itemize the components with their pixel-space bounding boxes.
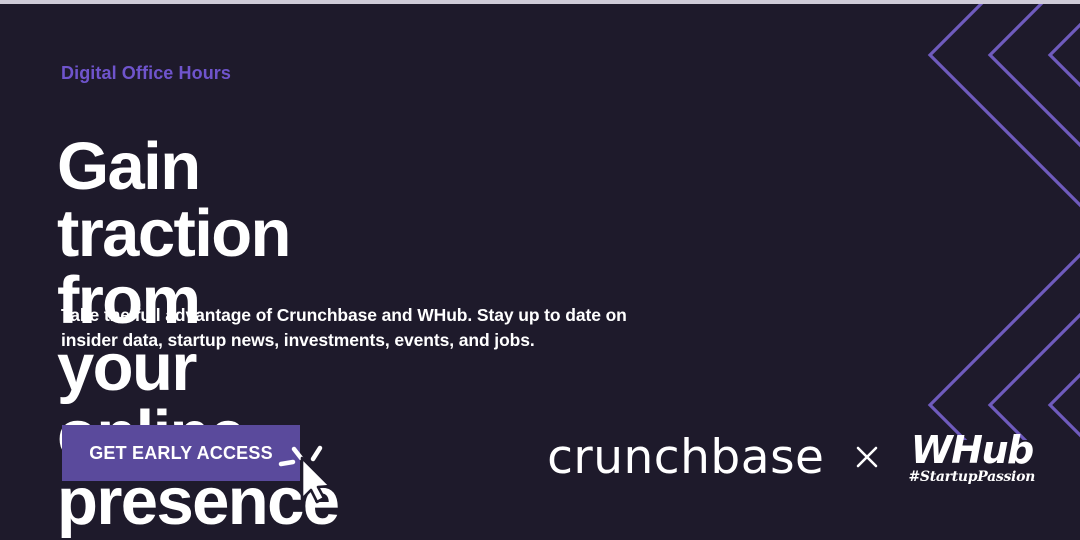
subcopy-text: Take the full advantage of Crunchbase an… xyxy=(61,303,691,354)
whub-logo: WHub #StartupPassion xyxy=(908,431,1035,484)
whub-wordmark: WHub xyxy=(911,431,1033,469)
whub-tagline: #StartupPassion xyxy=(908,470,1035,484)
eyebrow-label: Digital Office Hours xyxy=(61,63,231,84)
get-early-access-button[interactable]: GET EARLY ACCESS xyxy=(62,425,300,481)
logo-separator-x-icon xyxy=(852,442,882,472)
promo-banner: Digital Office Hours Gain traction from … xyxy=(0,0,1080,540)
partner-logo-lockup: crunchbase WHub #StartupPassion xyxy=(547,424,1035,490)
crunchbase-logo: crunchbase xyxy=(547,434,824,481)
diamond-lattice-decoration xyxy=(890,0,1080,440)
top-edge-strip xyxy=(0,0,1080,4)
